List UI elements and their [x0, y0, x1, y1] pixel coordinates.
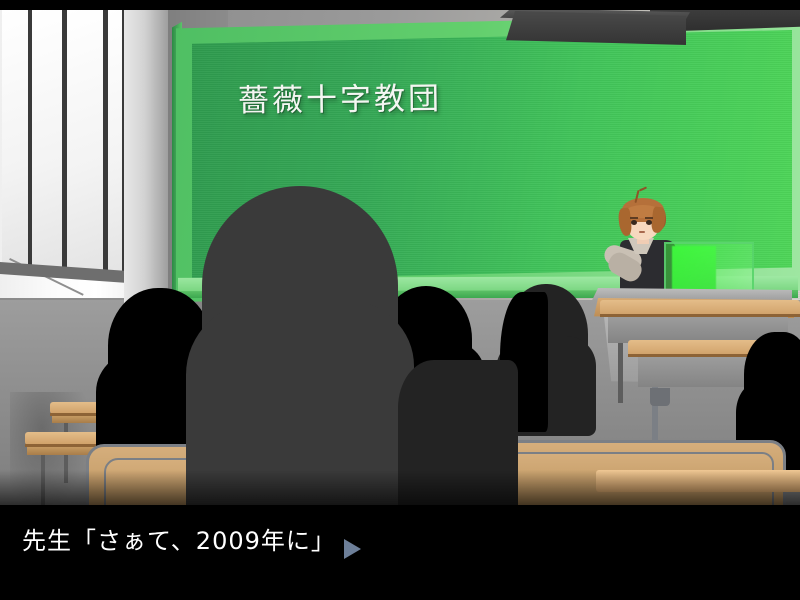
desk-leg — [618, 343, 623, 403]
window-pane-2 — [32, 10, 62, 272]
advance-triangle-icon[interactable] — [344, 539, 361, 559]
wall-speaker-box — [506, 11, 686, 45]
blackboard-chalk-text: 薔薇十字教団 — [238, 73, 442, 120]
teacher-eye-left — [631, 220, 637, 225]
window-pane-1 — [2, 10, 28, 272]
teacher-hair-side-right — [650, 206, 666, 233]
game-screen: 薔薇十字教団 — [0, 0, 800, 600]
teacher-eyebrow-right — [645, 217, 653, 219]
dialogue-box[interactable]: 先生「さぁて、2009年に」 — [0, 505, 800, 600]
teacher-mouth — [639, 231, 645, 233]
teacher-eye-right — [646, 220, 652, 225]
dialogue-text: 先生「さぁて、2009年に」 — [22, 521, 336, 556]
letterbox-top-bar — [0, 0, 800, 10]
window-pane-3 — [67, 10, 103, 272]
teacher-eyebrow-left — [630, 217, 638, 219]
window-pane-4 — [108, 10, 122, 272]
desk-hook — [650, 388, 670, 406]
